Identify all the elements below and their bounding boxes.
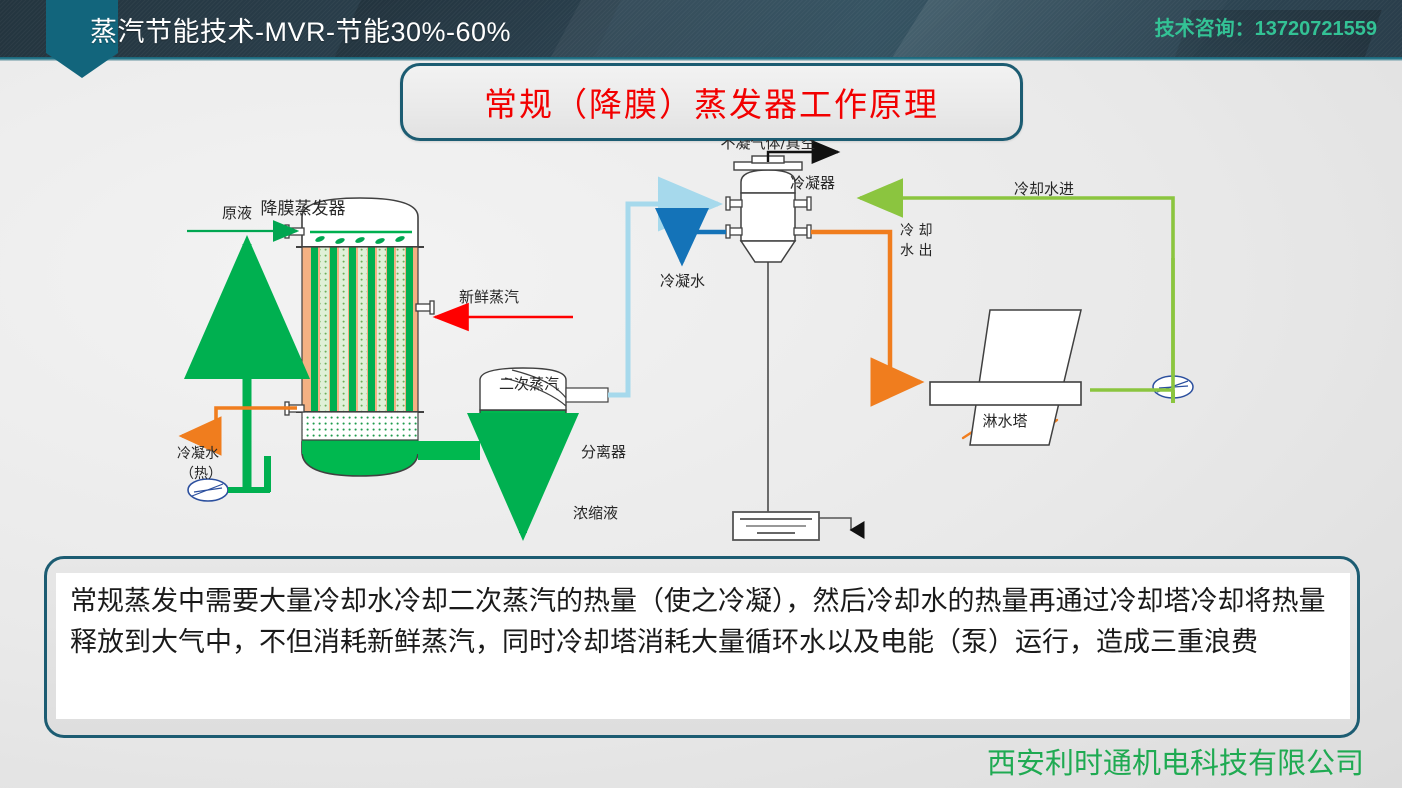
label-condensate-hot: 冷凝水 [177,446,219,462]
label-condensate-hot-2: （热） [180,466,222,482]
label-condenser: 冷凝器 [790,174,835,192]
cooling-water-out-line: 冷 却 水 出 [811,223,932,382]
note-text: 常规蒸发中需要大量冷却水冷却二次蒸汽的热量（使之冷凝），然后冷却水的热量再通过冷… [70,581,1336,663]
label-noncondensable: 不凝气体/真空 [720,140,815,152]
label-fresh-steam: 新鲜蒸汽 [459,288,519,306]
label-concentrate: 浓缩液 [573,504,618,522]
note-box: 常规蒸发中需要大量冷却水冷却二次蒸汽的热量（使之冷凝），然后冷却水的热量再通过冷… [44,556,1360,738]
label-condensate: 冷凝水 [660,272,705,290]
label-separator: 分离器 [581,443,626,461]
label-feed: 原液 [222,204,252,222]
condenser-condensate-line: 冷凝水 [660,232,726,290]
note-inner: 常规蒸发中需要大量冷却水冷却二次蒸汽的热量（使之冷凝），然后冷却水的热量再通过冷… [56,573,1350,719]
process-flow-diagram: 降膜蒸发器 原液 冷凝水 （热） [0,140,1402,550]
fresh-steam-line: 新鲜蒸汽 [435,288,573,317]
hot-condensate-line: 冷凝水 （热） [177,408,297,482]
condenser-vessel: 不凝气体/真空 冷凝器 [720,140,838,512]
cooling-tower: 淋水塔 [930,310,1081,445]
valve-icon [512,484,534,504]
header-contact: 技术咨询：13720721559 [1155,12,1377,41]
page-title: 常规（降膜）蒸发器工作原理 [484,78,939,126]
label-evaporator: 降膜蒸发器 [261,199,346,219]
header-title: 蒸汽节能技术-MVR-节能30%-60% [90,10,511,49]
pump-icon-1 [188,479,228,501]
falling-film-evaporator: 降膜蒸发器 [261,198,435,476]
footer-company: 西安利时通机电科技有限公司 [987,740,1364,782]
header-underline [0,57,1402,61]
slide-root: 蒸汽节能技术-MVR-节能30%-60% 技术咨询：13720721559 常规… [0,0,1402,788]
cooling-water-return-pipe [1090,258,1173,398]
label-cooling-water-out: 冷 却 [900,223,932,239]
label-cooling-water-in: 冷却水进 [1014,180,1074,198]
separator-vessel: 分离器 浓缩液 二次蒸汽 [418,368,626,533]
label-secondary-steam: 二次蒸汽 [499,375,559,393]
label-cooling-water-out-2: 水 出 [900,243,932,259]
slide-title-box: 常规（降膜）蒸发器工作原理 [400,63,1023,141]
label-cooling-tower: 淋水塔 [982,412,1027,430]
seal-tank [733,512,851,540]
